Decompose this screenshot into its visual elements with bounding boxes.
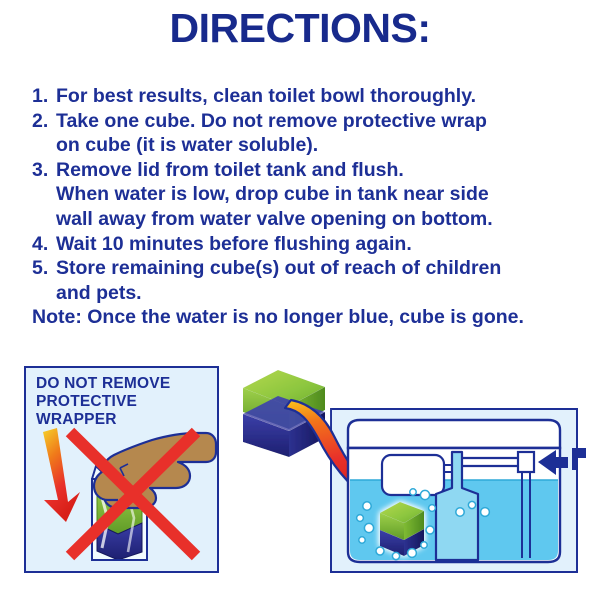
step-line: For best results, clean toilet bowl thor… [56,84,577,109]
drop-cube-in-tank-panel [330,408,578,573]
step-text: Wait 10 minutes before flushing again. [56,232,577,257]
warning-label: DO NOT REMOVE PROTECTIVE WRAPPER [36,375,170,429]
list-item: 2. Take one cube. Do not remove protecti… [32,109,577,158]
step-line: on cube (it is water soluble). [56,133,577,158]
list-item: 3. Remove lid from toilet tank and flush… [32,158,577,232]
list-item: 5. Store remaining cube(s) out of reach … [32,256,577,305]
step-number: 1. [32,84,56,109]
green-blue-cube-icon [243,370,325,457]
step-line: Wait 10 minutes before flushing again. [56,232,577,257]
step-number: 5. [32,256,56,281]
step-line: wall away from water valve opening on bo… [56,207,577,232]
step-number: 3. [32,158,56,183]
directions-list: 1. For best results, clean toilet bowl t… [32,84,577,330]
step-line: When water is low, drop cube in tank nea… [56,182,577,207]
list-item: 1. For best results, clean toilet bowl t… [32,84,577,109]
step-line: Store remaining cube(s) out of reach of … [56,256,577,281]
step-line: and pets. [56,281,577,306]
list-item: 4. Wait 10 minutes before flushing again… [32,232,577,257]
page-title: DIRECTIONS: [0,8,600,49]
step-line: Take one cube. Do not remove protective … [56,109,577,134]
step-number: 4. [32,232,56,257]
directions-panel-page: DIRECTIONS: 1. For best results, clean t… [0,0,600,600]
do-not-remove-wrapper-panel: DO NOT REMOVE PROTECTIVE WRAPPER [24,366,219,573]
step-text: Take one cube. Do not remove protective … [56,109,577,158]
note-text: Note: Once the water is no longer blue, … [32,305,577,330]
step-text: For best results, clean toilet bowl thor… [56,84,577,109]
step-text: Remove lid from toilet tank and flush. W… [56,158,577,232]
step-number: 2. [32,109,56,134]
step-text: Store remaining cube(s) out of reach of … [56,256,577,305]
step-line: Remove lid from toilet tank and flush. [56,158,577,183]
